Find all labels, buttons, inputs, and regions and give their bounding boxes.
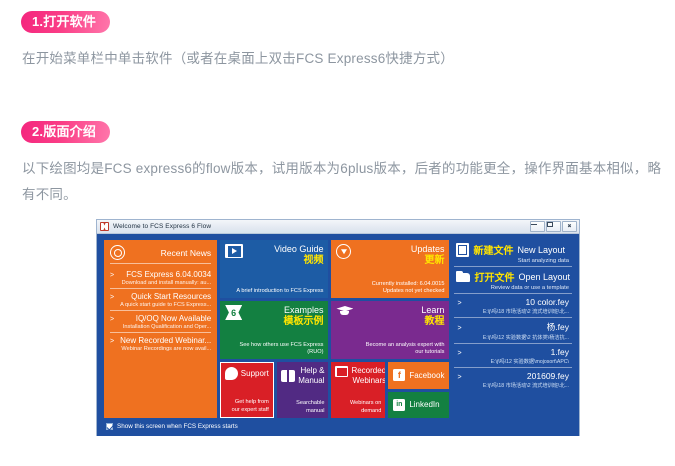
learn-title-cn: 教程: [421, 316, 444, 328]
facebook-label: Facebook: [409, 371, 444, 380]
video-guide-tile[interactable]: Video Guide 视频 A brief introduction to F…: [220, 240, 328, 298]
recent-file-name: 201609.fey: [527, 371, 569, 381]
news-item-subtitle: Installation Qualification and Oper...: [110, 324, 211, 330]
updates-tile[interactable]: Updates 更新 Currently installed: 6.04.001…: [331, 240, 449, 298]
fcs-express-welcome-window: Welcome to FCS Express 6 Flow ✖ Recent N…: [96, 219, 580, 436]
new-layout-label-cn: 新建文件: [473, 242, 513, 257]
section-1-badge: 1.打开软件: [21, 11, 110, 33]
updates-title-cn: 更新: [411, 255, 445, 267]
support-subtitle: Get help from our expert staff: [225, 399, 269, 414]
examples-title: Examples: [283, 305, 323, 316]
news-item-subtitle: Download and install manually: au...: [110, 280, 211, 286]
download-circle-icon: [336, 244, 351, 259]
open-book-icon: [281, 370, 295, 382]
updates-learn-column: Updates 更新 Currently installed: 6.04.001…: [331, 240, 449, 418]
show-on-startup-label: Show this screen when FCS Express starts: [117, 423, 238, 430]
recent-file-row[interactable]: > 1.fey E:\j\吗\12 实验数据\mojosort\APC\: [454, 344, 572, 368]
learn-subtitle: Become an analysis expert with our tutor…: [336, 342, 444, 356]
new-layout-subtitle: Start analyzing data: [454, 258, 572, 267]
facebook-tile[interactable]: f Facebook: [388, 362, 449, 389]
support-manual-row: Support Get help from our expert staff: [220, 362, 328, 418]
open-folder-icon: [456, 271, 470, 282]
news-item-title: New Recorded Webinar...: [120, 336, 211, 345]
help-manual-tile[interactable]: Help & Manual Searchable manual: [277, 362, 329, 418]
recent-file-name: 杨.fey: [547, 321, 569, 333]
help-manual-title: Help & Manual: [298, 366, 324, 386]
updates-subtitle: Currently installed: 6.04.0015 Updates n…: [336, 281, 444, 295]
recorded-webinars-title: Recorded Webinars: [351, 366, 385, 386]
graduation-cap-icon: [336, 305, 353, 316]
recent-file-name: 10 color.fey: [526, 297, 569, 307]
chevron-right-icon: >: [457, 350, 461, 357]
startup-option-row[interactable]: Show this screen when FCS Express starts: [104, 423, 572, 430]
film-play-icon: [225, 244, 243, 258]
recent-file-row[interactable]: > 10 color.fey E:\j\吗\18 市场活动\2 流式培训班\北.…: [454, 294, 572, 318]
open-layout-label-cn: 打开文件: [474, 269, 514, 284]
tiles-grid: Recent News > FCS Express 6.04.0034 Down…: [104, 240, 572, 418]
facebook-icon: f: [393, 369, 405, 381]
section-2-badge: 2.版面介绍: [21, 121, 110, 143]
news-item-title: IQ/OQ Now Available: [136, 314, 211, 323]
recorded-webinars-tile[interactable]: Recorded Webinars Webinars on demand: [331, 362, 385, 418]
recent-file-path: E:\j\吗\12 实验数据\mojosort\APC\: [457, 358, 569, 365]
chevron-right-icon: >: [457, 325, 461, 332]
news-item[interactable]: > Quick Start Resources A quick start gu…: [110, 289, 211, 311]
video-examples-column: Video Guide 视频 A brief introduction to F…: [220, 240, 328, 418]
recent-news-title: Recent News: [161, 248, 212, 258]
welcome-screen-body: Recent News > FCS Express 6.04.0034 Down…: [97, 234, 579, 436]
refresh-circle-icon: [110, 245, 125, 260]
chevron-right-icon: >: [457, 374, 461, 381]
open-layout-action[interactable]: 打开文件 Open Layout: [454, 267, 572, 285]
maximize-button[interactable]: [546, 221, 561, 232]
right-panel: 新建文件 New Layout Start analyzing data 打开文…: [452, 240, 572, 418]
recent-news-tile[interactable]: Recent News > FCS Express 6.04.0034 Down…: [104, 240, 217, 418]
open-layout-subtitle: Review data or use a template: [454, 285, 572, 294]
recent-file-row[interactable]: > 杨.fey E:\j\吗\12 实验数据\2 抗体类\杨洁抗...: [454, 318, 572, 344]
news-item[interactable]: > FCS Express 6.04.0034 Download and ins…: [110, 267, 211, 289]
examples-subtitle: See how others use FCS Express (RUO): [225, 342, 323, 356]
app-logo-icon: [100, 222, 109, 231]
new-layout-action[interactable]: 新建文件 New Layout: [454, 240, 572, 258]
linkedin-icon: in: [393, 399, 405, 411]
updates-title: Updates: [411, 244, 445, 255]
window-controls: ✖: [530, 221, 577, 232]
recent-news-header: Recent News: [110, 245, 211, 264]
video-guide-subtitle: A brief introduction to FCS Express: [225, 288, 323, 295]
close-button[interactable]: ✖: [562, 221, 577, 232]
article-page: 1.打开软件 在开始菜单栏中单击软件（或者在桌面上双击FCS Express6快…: [0, 0, 675, 466]
news-item-title: FCS Express 6.04.0034: [126, 270, 211, 279]
recent-file-path: E:\j\吗\18 市场活动\2 流式培训班\北...: [457, 382, 569, 389]
minimize-button[interactable]: [530, 221, 545, 232]
video-guide-title-cn: 视频: [274, 255, 323, 267]
recorded-webinars-subtitle: Webinars on demand: [335, 400, 381, 415]
chevron-right-icon: >: [110, 294, 114, 301]
section-2-paragraph: 以下绘图均是FCS express6的flow版本，试用版本为6plus版本，后…: [22, 156, 662, 208]
social-links: f Facebook in LinkedIn: [388, 362, 449, 418]
recent-file-row[interactable]: > 201609.fey E:\j\吗\18 市场活动\2 流式培训班\北...: [454, 368, 572, 391]
window-titlebar: Welcome to FCS Express 6 Flow ✖: [97, 220, 579, 234]
news-item-title: Quick Start Resources: [131, 292, 211, 301]
webinar-camera-icon: [335, 366, 348, 377]
recent-file-name: 1.fey: [551, 347, 569, 357]
linkedin-label: LinkedIn: [409, 400, 439, 409]
chevron-right-icon: >: [110, 338, 114, 345]
section-1-header: 1.打开软件: [21, 11, 110, 33]
news-item[interactable]: > IQ/OQ Now Available Installation Quali…: [110, 311, 211, 333]
window-title: Welcome to FCS Express 6 Flow: [113, 223, 211, 230]
new-layout-label-en: New Layout: [517, 245, 565, 255]
examples-title-cn: 模板示例: [283, 316, 323, 328]
support-tile[interactable]: Support Get help from our expert staff: [220, 362, 274, 418]
news-item[interactable]: > New Recorded Webinar... Webinar Record…: [110, 333, 211, 354]
six-badge-icon: 6: [225, 305, 242, 320]
news-item-subtitle: Webinar Recordings are now avail...: [110, 346, 211, 352]
linkedin-tile[interactable]: in LinkedIn: [388, 392, 449, 419]
learn-title: Learn: [421, 305, 444, 316]
learn-tile[interactable]: Learn 教程 Become an analysis expert with …: [331, 301, 449, 359]
section-2-header: 2.版面介绍: [21, 121, 110, 143]
chevron-right-icon: >: [110, 316, 114, 323]
chevron-right-icon: >: [457, 300, 461, 307]
chevron-right-icon: >: [110, 272, 114, 279]
webinars-social-row: Recorded Webinars Webinars on demand: [331, 362, 449, 418]
support-title: Support: [241, 369, 269, 379]
video-guide-title: Video Guide: [274, 244, 323, 255]
recent-file-path: E:\j\吗\12 实验数据\2 抗体类\杨洁抗...: [457, 334, 569, 341]
open-layout-label-en: Open Layout: [518, 272, 570, 282]
recent-file-path: E:\j\吗\18 市场活动\2 流式培训班\北...: [457, 308, 569, 315]
support-balloon-icon: [225, 367, 238, 380]
new-document-icon: [456, 243, 469, 257]
news-item-subtitle: A quick start guide to FCS Express...: [110, 302, 211, 308]
section-1-paragraph: 在开始菜单栏中单击软件（或者在桌面上双击FCS Express6快捷方式）: [22, 46, 662, 72]
show-on-startup-checkbox[interactable]: [106, 423, 113, 430]
recent-news-column: Recent News > FCS Express 6.04.0034 Down…: [104, 240, 217, 418]
examples-tile[interactable]: 6 Examples 模板示例 See how others use FCS E…: [220, 301, 328, 359]
help-manual-subtitle: Searchable manual: [281, 400, 325, 415]
